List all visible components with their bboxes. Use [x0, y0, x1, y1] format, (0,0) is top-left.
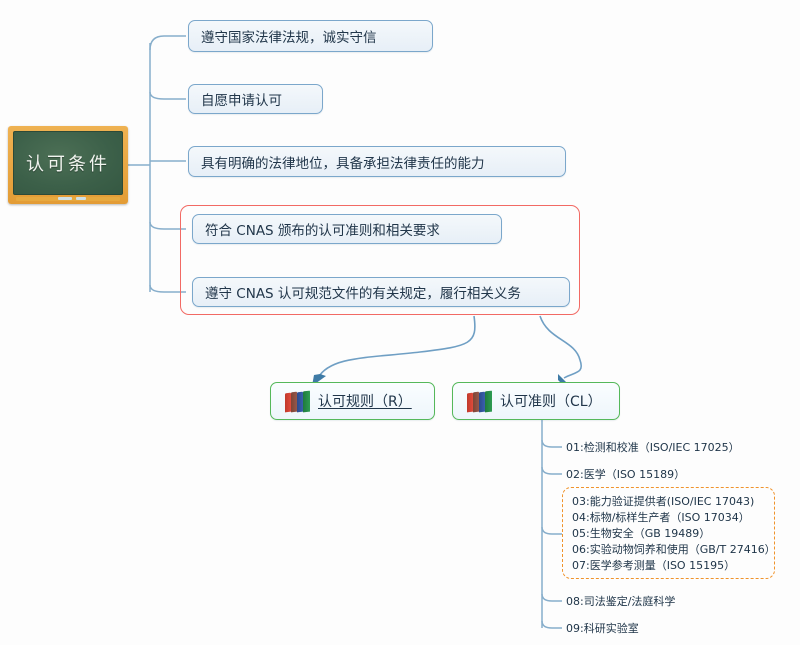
branch-node-4[interactable]: 符合 CNAS 颁布的认可准则和相关要求	[192, 214, 502, 244]
branch-node-3[interactable]: 具有明确的法律地位，具备承担法律责任的能力	[188, 146, 566, 177]
criteria-item-05[interactable]: 05:生物安全（GB 19489）	[572, 526, 776, 542]
document-node-rules-label: 认可规则（R）	[318, 391, 412, 411]
branch-node-1[interactable]: 遵守国家法律法规，诚实守信	[188, 20, 433, 52]
criteria-item-03[interactable]: 03:能力验证提供者(ISO/IEC 17043)	[572, 494, 776, 510]
document-node-rules[interactable]: 认可规则（R）	[270, 382, 435, 420]
books-icon	[285, 391, 311, 412]
criteria-item-02[interactable]: 02:医学（ISO 15189）	[566, 467, 685, 482]
criteria-item-08[interactable]: 08:司法鉴定/法庭科学	[566, 594, 675, 609]
criteria-item-07[interactable]: 07:医学参考测量（ISO 15195）	[572, 558, 776, 574]
document-node-criteria[interactable]: 认可准则（CL）	[452, 382, 620, 420]
group-frame-specialty: 03:能力验证提供者(ISO/IEC 17043) 04:标物/标样生产者（IS…	[562, 487, 775, 579]
branch-node-3-label: 具有明确的法律地位，具备承担法律责任的能力	[201, 152, 485, 172]
criteria-item-04[interactable]: 04:标物/标样生产者（ISO 17034）	[572, 510, 776, 526]
books-icon	[467, 391, 493, 412]
chalk-piece	[58, 197, 72, 200]
chalk-piece	[76, 197, 86, 200]
branch-node-5-label: 遵守 CNAS 认可规范文件的有关规定，履行相关义务	[205, 282, 521, 302]
criteria-item-09[interactable]: 09:科研实验室	[566, 621, 639, 636]
document-node-criteria-label: 认可准则（CL）	[500, 391, 602, 411]
blackboard-surface: 认可条件	[13, 131, 123, 195]
root-node-blackboard[interactable]: 认可条件	[8, 126, 128, 204]
criteria-item-06[interactable]: 06:实验动物饲养和使用（GB/T 27416）	[572, 542, 776, 558]
criteria-item-01[interactable]: 01:检测和校准（ISO/IEC 17025）	[566, 440, 740, 455]
branch-node-2[interactable]: 自愿申请认可	[188, 84, 323, 114]
branch-node-4-label: 符合 CNAS 颁布的认可准则和相关要求	[205, 219, 440, 239]
root-node-label: 认可条件	[26, 150, 110, 176]
criteria-item-group: 03:能力验证提供者(ISO/IEC 17043) 04:标物/标样生产者（IS…	[572, 494, 776, 574]
mindmap-canvas: 认可条件 遵守国家法律法规，诚实守信 自愿申请认可 具有明确的法律地位，具备承担…	[0, 0, 800, 645]
branch-node-2-label: 自愿申请认可	[201, 89, 282, 109]
branch-node-5[interactable]: 遵守 CNAS 认可规范文件的有关规定，履行相关义务	[192, 277, 570, 307]
branch-node-1-label: 遵守国家法律法规，诚实守信	[201, 26, 377, 46]
